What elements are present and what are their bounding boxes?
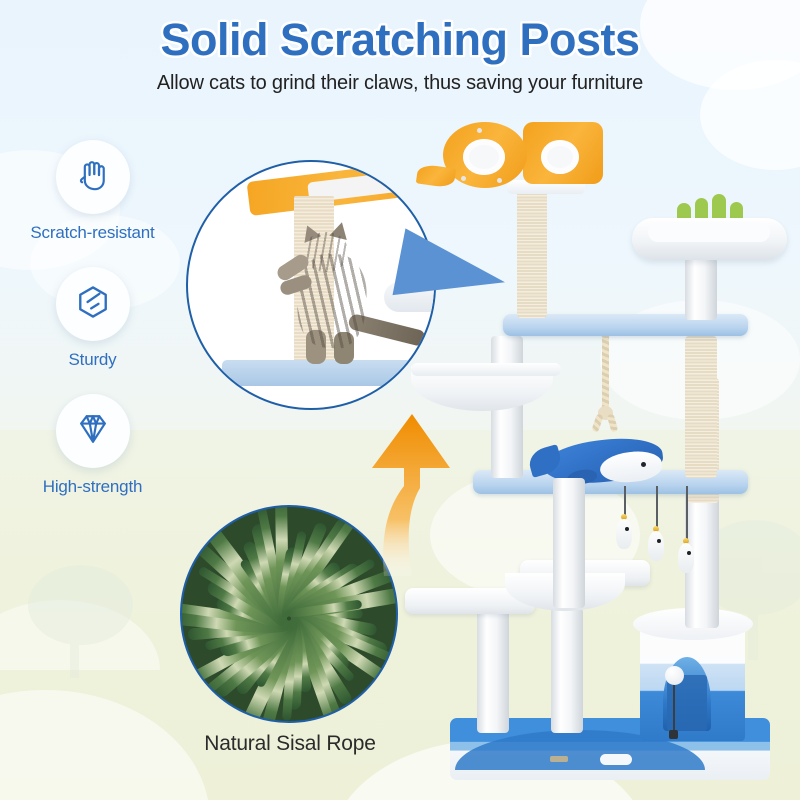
fish-string bbox=[656, 486, 658, 528]
perch-ring-hole bbox=[541, 140, 579, 174]
base-label bbox=[550, 756, 568, 762]
fish-eye bbox=[687, 551, 691, 555]
sisal-scratching-post bbox=[517, 190, 547, 318]
rope-tail bbox=[607, 413, 619, 432]
fish-string bbox=[686, 486, 688, 540]
feature-badge bbox=[56, 394, 130, 468]
support-post bbox=[553, 478, 585, 608]
fish-string bbox=[624, 486, 626, 516]
feature-badge bbox=[56, 140, 130, 214]
spring-base bbox=[669, 730, 678, 739]
fish-body bbox=[648, 531, 664, 561]
perch-ring-hole bbox=[463, 139, 505, 175]
perch-screw bbox=[461, 176, 466, 181]
feature-label: Scratch-resistant bbox=[0, 223, 185, 243]
fish-body bbox=[616, 519, 632, 549]
inset-caption: Natural Sisal Rope bbox=[140, 732, 440, 756]
hammock-rim bbox=[411, 363, 561, 376]
feature-badge bbox=[56, 267, 130, 341]
perch-screw bbox=[477, 128, 482, 133]
feature-label: Sturdy bbox=[0, 350, 185, 370]
rope-tail bbox=[591, 413, 603, 432]
orange-curved-arrow bbox=[360, 400, 490, 580]
condo-house[interactable] bbox=[640, 623, 745, 741]
whale-eye bbox=[641, 462, 646, 467]
diamond-icon bbox=[73, 409, 113, 454]
perch-screw bbox=[497, 178, 502, 183]
spring-toy-rod bbox=[673, 678, 675, 736]
infographic-canvas: Solid Scratching Posts Allow cats to gri… bbox=[0, 0, 800, 800]
fish-body bbox=[678, 543, 694, 573]
support-post bbox=[477, 603, 509, 733]
feature-label: High-strength bbox=[0, 477, 185, 497]
top-bowl-inner bbox=[648, 222, 770, 242]
inset-blue-platform bbox=[222, 360, 432, 386]
hexagon-icon bbox=[73, 282, 113, 327]
hanging-sisal-rope[interactable] bbox=[602, 333, 609, 411]
fish-eye bbox=[625, 527, 629, 531]
base-foam-detail bbox=[600, 754, 632, 765]
header: Solid Scratching Posts Allow cats to gri… bbox=[0, 0, 800, 95]
clownfish-tail-fin bbox=[416, 163, 456, 188]
sisal-scratching-post bbox=[685, 336, 717, 478]
page-title: Solid Scratching Posts bbox=[0, 0, 800, 63]
tree-silhouette bbox=[20, 565, 140, 685]
feature-item-high-strength[interactable]: High-strength bbox=[0, 394, 185, 497]
support-post bbox=[685, 258, 717, 320]
support-post bbox=[551, 608, 583, 733]
feature-item-sturdy[interactable]: Sturdy bbox=[0, 267, 185, 370]
feature-item-scratch-resistant[interactable]: Scratch-resistant bbox=[0, 140, 185, 243]
inset-cat-head bbox=[304, 232, 348, 272]
feature-list: Scratch-resistant Sturdy bbox=[0, 140, 185, 521]
fish-eye bbox=[657, 539, 661, 543]
spring-ball-toy[interactable] bbox=[665, 666, 684, 685]
hand-icon bbox=[73, 155, 113, 200]
page-subtitle: Allow cats to grind their claws, thus sa… bbox=[0, 72, 800, 95]
